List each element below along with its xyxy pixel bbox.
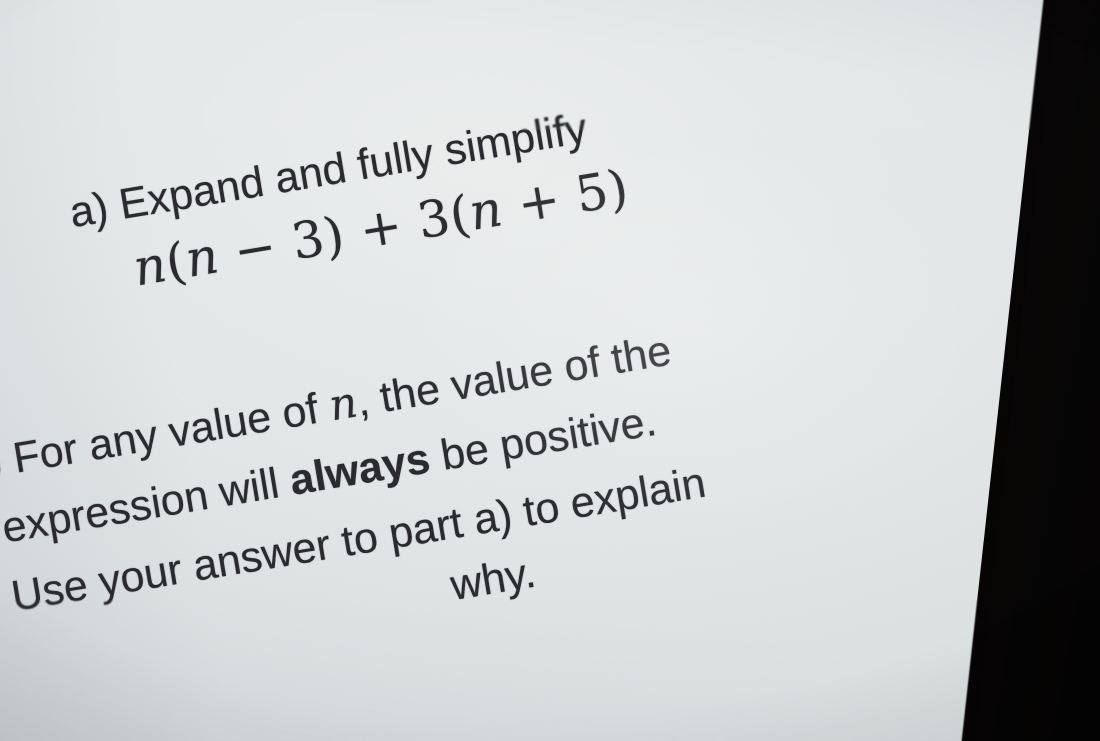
emphasis-always: always [286,434,433,504]
expression-plus-five: + 5) [497,158,632,236]
part-b-line-4: why. [447,549,539,611]
worksheet-photo: a) Expand and fully simplify n(n − 3) + … [0,0,1100,741]
printed-text-layer: a) Expand and fully simplify n(n − 3) + … [0,0,1100,741]
